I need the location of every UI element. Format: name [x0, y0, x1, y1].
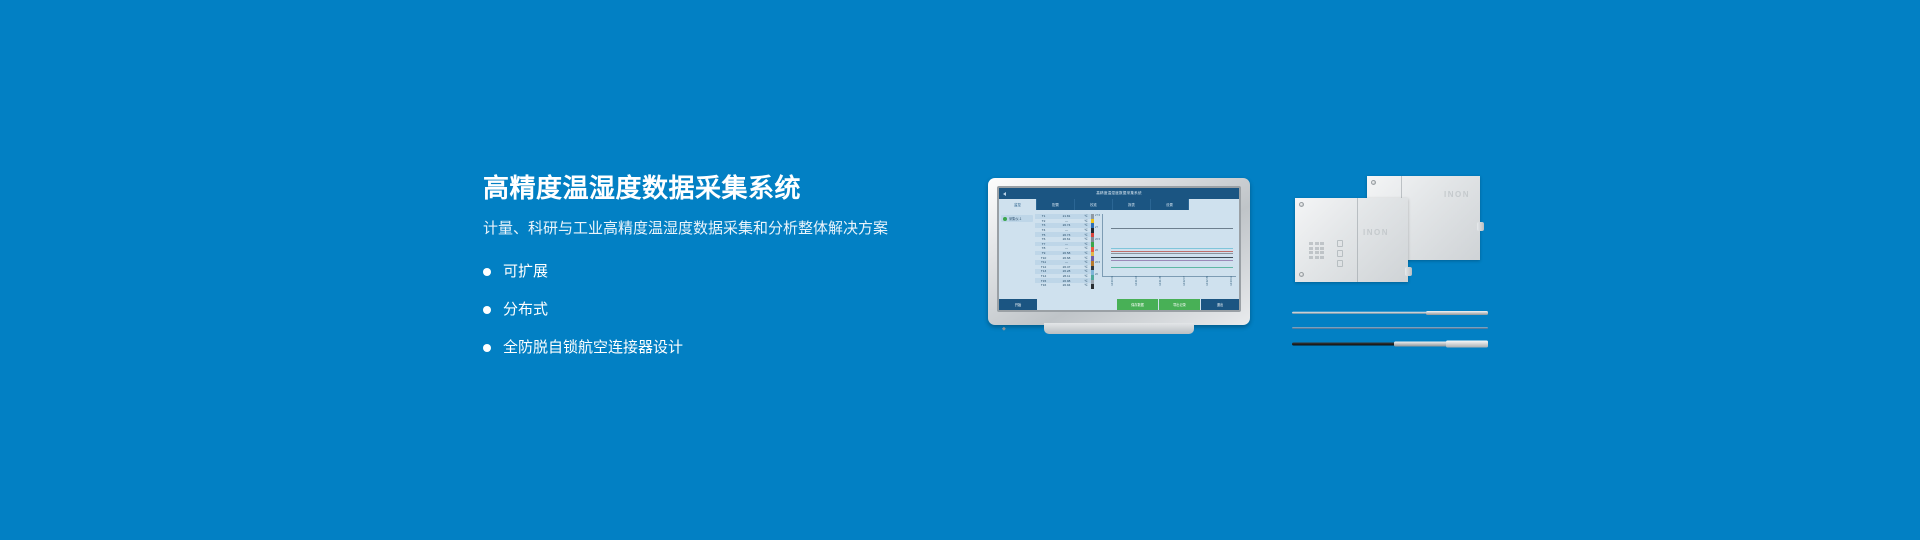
- cell-value: 26.98: [1052, 279, 1081, 283]
- cell-value: ---: [1052, 242, 1081, 246]
- cell-value: ---: [1052, 260, 1081, 264]
- tab-bar-filler: [1189, 199, 1239, 210]
- stainless-probe: [1292, 310, 1488, 315]
- cell-unit: ℃: [1081, 242, 1091, 246]
- cell-value: 21.81: [1052, 214, 1081, 218]
- acquisition-module-front: INON: [1295, 198, 1408, 282]
- tab-calibration[interactable]: 校准: [1075, 199, 1113, 210]
- cell-channel: T1: [1035, 214, 1052, 218]
- y-axis-tick: 26: [1095, 273, 1100, 276]
- monitor-stand: [1044, 323, 1194, 334]
- cell-unit: ℃: [1081, 246, 1091, 250]
- feature-list: 可扩展 分布式 全防脱自锁航空连接器设计: [483, 256, 1043, 363]
- copy-block: 高精度温湿度数据采集系统 计量、科研与工业高精度温湿度数据采集和分析整体解决方案…: [483, 174, 1043, 363]
- cell-value: ---: [1052, 228, 1081, 232]
- x-axis-tick: 14:20:31: [1111, 276, 1114, 286]
- cell-unit: ℃: [1081, 283, 1091, 287]
- module-brand-logo: INON: [1444, 190, 1470, 199]
- cell-unit: ℃: [1081, 237, 1091, 241]
- monitor-brand-mark: ◆: [1002, 326, 1006, 332]
- cell-value: 26.94: [1052, 283, 1081, 287]
- table-row[interactable]: T526.73℃: [1035, 232, 1091, 237]
- start-button[interactable]: 开始: [999, 299, 1037, 310]
- black-cable-probe: [1292, 341, 1488, 346]
- probe-shaft: [1292, 342, 1396, 345]
- cell-channel: T8: [1035, 246, 1052, 250]
- cell-value: 26.28: [1052, 269, 1081, 273]
- table-row[interactable]: T626.61℃: [1035, 237, 1091, 242]
- cell-unit: ℃: [1081, 219, 1091, 223]
- y-axis-tick: 27: [1095, 226, 1100, 229]
- module-screw-icon: [1299, 202, 1304, 207]
- y-axis-tick: 26.5: [1095, 238, 1100, 241]
- probe-shaft: [1292, 311, 1430, 314]
- cell-unit: ℃: [1081, 260, 1091, 264]
- module-screw-icon: [1371, 180, 1376, 185]
- footer-spacer: [1037, 299, 1117, 310]
- table-row[interactable]: T1526.98℃: [1035, 278, 1091, 283]
- list-item: 全防脱自锁航空连接器设计: [483, 332, 1043, 363]
- chart-y-axis: 27.52726.52626.526: [1095, 214, 1100, 276]
- chart-series-line: [1111, 267, 1233, 268]
- x-axis-tick: 14:22:39: [1206, 276, 1209, 286]
- cell-value: 26.73: [1052, 233, 1081, 237]
- monitor-inner-frame: 高精度温湿度数据采集系统 监控 配置 校准 报表 设置: [997, 186, 1241, 312]
- table-row[interactable]: T11---℃: [1035, 260, 1091, 265]
- sidebar-item-device[interactable]: 采集仪-1: [1001, 215, 1033, 222]
- module-seam: [1357, 198, 1358, 282]
- probe-tip: [1426, 311, 1488, 315]
- monitor-bezel: 高精度温湿度数据采集系统 监控 配置 校准 报表 设置: [988, 178, 1250, 325]
- module-connector-port: [1405, 267, 1412, 276]
- bullet-icon: [483, 306, 491, 314]
- table-row[interactable]: T1626.94℃: [1035, 283, 1091, 288]
- chart-plot-area: 27.52726.52626.526 14:20:3114:21:0314:21…: [1102, 214, 1236, 277]
- feature-label: 全防脱自锁航空连接器设计: [503, 340, 683, 355]
- cell-unit: ℃: [1081, 265, 1091, 269]
- list-item: 可扩展: [483, 256, 1043, 287]
- trend-chart: 27.52726.52626.526 14:20:3114:21:0314:21…: [1094, 210, 1239, 299]
- app-title: 高精度温湿度数据采集系统: [999, 191, 1239, 196]
- tab-report[interactable]: 报表: [1113, 199, 1151, 210]
- cell-value: 26.11: [1052, 274, 1081, 278]
- cell-unit: ℃: [1081, 274, 1091, 278]
- table-row[interactable]: T121.81℃: [1035, 214, 1091, 219]
- feature-label: 分布式: [503, 302, 548, 317]
- bullet-icon: [483, 344, 491, 352]
- list-item: 分布式: [483, 294, 1043, 325]
- module-screw-icon: [1299, 272, 1304, 277]
- cell-channel: T3: [1035, 223, 1052, 227]
- cell-channel: T7: [1035, 242, 1052, 246]
- table-row[interactable]: T4---℃: [1035, 228, 1091, 233]
- chart-series-line: [1111, 260, 1233, 261]
- chart-series-line: [1111, 248, 1233, 249]
- cell-unit: ℃: [1081, 223, 1091, 227]
- feature-label: 可扩展: [503, 264, 548, 279]
- exit-button[interactable]: 退出: [1201, 299, 1239, 310]
- module-terminal-grid: [1309, 242, 1324, 259]
- cell-unit: ℃: [1081, 251, 1091, 255]
- table-row[interactable]: T1026.68℃: [1035, 255, 1091, 260]
- cell-unit: ℃: [1081, 256, 1091, 260]
- cell-channel: T11: [1035, 260, 1052, 264]
- sensor-probes: [1292, 310, 1488, 358]
- table-row[interactable]: T1426.11℃: [1035, 274, 1091, 279]
- table-row[interactable]: T326.74℃: [1035, 223, 1091, 228]
- x-axis-tick: 14:23:11: [1230, 276, 1233, 286]
- product-banner: 高精度温湿度数据采集系统 计量、科研与工业高精度温湿度数据采集和分析整体解决方案…: [0, 0, 1920, 540]
- panel-pc-monitor: 高精度温湿度数据采集系统 监控 配置 校准 报表 设置: [988, 178, 1250, 325]
- blue-cable-probe: [1292, 325, 1488, 330]
- y-axis-tick: 26: [1095, 249, 1100, 252]
- cell-value: ---: [1052, 246, 1081, 250]
- chart-series-line: [1111, 228, 1233, 229]
- cell-channel: T2: [1035, 219, 1052, 223]
- table-row[interactable]: T7---℃: [1035, 242, 1091, 247]
- cell-channel: T13: [1035, 269, 1052, 273]
- cell-value: 26.58: [1052, 251, 1081, 255]
- probe-shaft: [1292, 327, 1488, 329]
- channel-table: T121.81℃T2---℃T326.74℃T4---℃T526.73℃T626…: [1035, 210, 1091, 299]
- save-data-button[interactable]: 保存数据: [1117, 299, 1159, 310]
- cell-channel: T5: [1035, 233, 1052, 237]
- x-axis-tick: 14:21:35: [1159, 276, 1162, 286]
- table-row[interactable]: T1326.28℃: [1035, 269, 1091, 274]
- page-title: 高精度温湿度数据采集系统: [483, 174, 1043, 203]
- tab-settings[interactable]: 设置: [1151, 199, 1189, 210]
- acquisition-modules: INON INON: [1295, 176, 1480, 286]
- table-row[interactable]: T1226.47℃: [1035, 265, 1091, 270]
- tab-config[interactable]: 配置: [1037, 199, 1075, 210]
- export-record-button[interactable]: 导出记录: [1159, 299, 1201, 310]
- device-tree-sidebar: 采集仪-1: [999, 210, 1035, 299]
- app-body: 采集仪-1 T121.81℃T2---℃T326.74℃T4---℃T526.7…: [999, 210, 1239, 299]
- page-subtitle: 计量、科研与工业高精度温湿度数据采集和分析整体解决方案: [483, 219, 1043, 239]
- cell-channel: T6: [1035, 237, 1052, 241]
- cell-unit: ℃: [1081, 279, 1091, 283]
- cell-channel: T9: [1035, 251, 1052, 255]
- cell-value: ---: [1052, 219, 1081, 223]
- cell-unit: ℃: [1081, 233, 1091, 237]
- cell-unit: ℃: [1081, 228, 1091, 232]
- x-axis-tick: 14:21:03: [1135, 276, 1138, 286]
- module-port-column: [1337, 240, 1343, 267]
- table-row[interactable]: T8---℃: [1035, 246, 1091, 251]
- cell-value: 26.68: [1052, 256, 1081, 260]
- probe-tip: [1446, 340, 1488, 347]
- app-tab-bar: 监控 配置 校准 报表 设置: [999, 199, 1239, 210]
- x-axis-tick: 14:22:07: [1183, 276, 1186, 286]
- y-axis-tick: 26.5: [1095, 261, 1100, 264]
- cell-channel: T15: [1035, 279, 1052, 283]
- cell-channel: T10: [1035, 256, 1052, 260]
- chart-series-line: [1111, 251, 1233, 252]
- cell-value: 26.74: [1052, 223, 1081, 227]
- cell-channel: T14: [1035, 274, 1052, 278]
- chart-x-axis: 14:20:3114:21:0314:21:3514:22:0714:22:39…: [1111, 276, 1233, 286]
- y-axis-tick: 27.5: [1095, 214, 1100, 217]
- chart-series-line: [1111, 253, 1233, 254]
- module-connector-port: [1477, 222, 1484, 231]
- tab-monitor[interactable]: 监控: [999, 199, 1037, 210]
- device-node-label: 采集仪-1: [1009, 216, 1021, 221]
- cell-channel: T12: [1035, 265, 1052, 269]
- cell-channel: T4: [1035, 228, 1052, 232]
- table-row[interactable]: T2---℃: [1035, 219, 1091, 224]
- device-screen: 高精度温湿度数据采集系统 监控 配置 校准 报表 设置: [999, 188, 1239, 310]
- cell-channel: T16: [1035, 283, 1052, 287]
- module-brand-logo: INON: [1363, 228, 1389, 237]
- table-row[interactable]: T926.58℃: [1035, 251, 1091, 256]
- status-online-icon: [1003, 217, 1007, 221]
- chart-series-line: [1111, 257, 1233, 258]
- app-footer-bar: 开始 保存数据 导出记录 退出: [999, 299, 1239, 310]
- cell-value: 26.47: [1052, 265, 1081, 269]
- cell-unit: ℃: [1081, 269, 1091, 273]
- probe-connector: [1394, 341, 1450, 346]
- cell-unit: ℃: [1081, 214, 1091, 218]
- bullet-icon: [483, 268, 491, 276]
- app-titlebar: 高精度温湿度数据采集系统: [999, 188, 1239, 199]
- cell-value: 26.61: [1052, 237, 1081, 241]
